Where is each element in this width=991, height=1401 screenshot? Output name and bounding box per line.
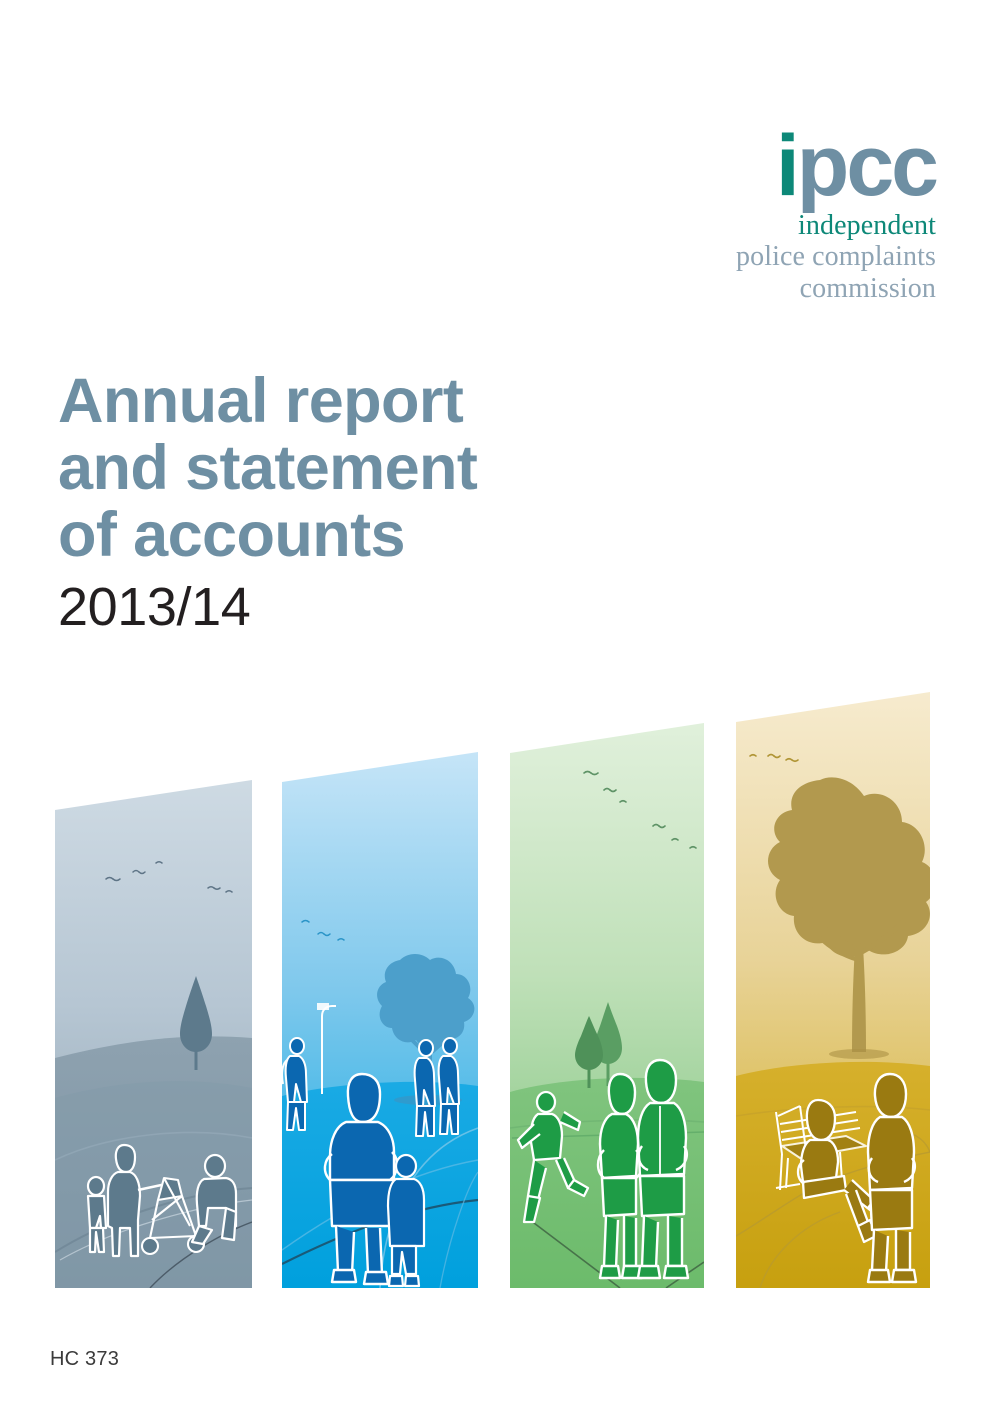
title-line-3: of accounts: [58, 502, 698, 569]
ipcc-wordmark: ipcc: [676, 130, 936, 204]
wordmark-letter-i: i: [776, 118, 797, 214]
logo-line-police-complaints: police complaints: [676, 241, 936, 272]
report-year: 2013/14: [58, 574, 698, 642]
illustration-panel-green: [510, 710, 710, 1310]
illustration-panel-grey: [55, 770, 255, 1290]
wordmark-letters-pcc: pcc: [797, 118, 936, 214]
page-title: Annual report and statement of accounts: [58, 368, 698, 568]
logo-line-commission: commission: [676, 273, 936, 304]
illustration-panel-gold: [736, 680, 936, 1300]
ipcc-logo: ipcc independent police complaints commi…: [676, 130, 936, 304]
cover-illustration: [0, 660, 991, 1310]
title-line-2: and statement: [58, 435, 698, 502]
figure-toddler: [88, 1177, 106, 1252]
title-block: Annual report and statement of accounts …: [58, 368, 698, 642]
illustration-panel-blue: [282, 740, 482, 1300]
footer-document-code: HC 373: [50, 1348, 119, 1371]
logo-line-independent: independent: [676, 210, 936, 241]
title-line-1: Annual report: [58, 368, 698, 435]
